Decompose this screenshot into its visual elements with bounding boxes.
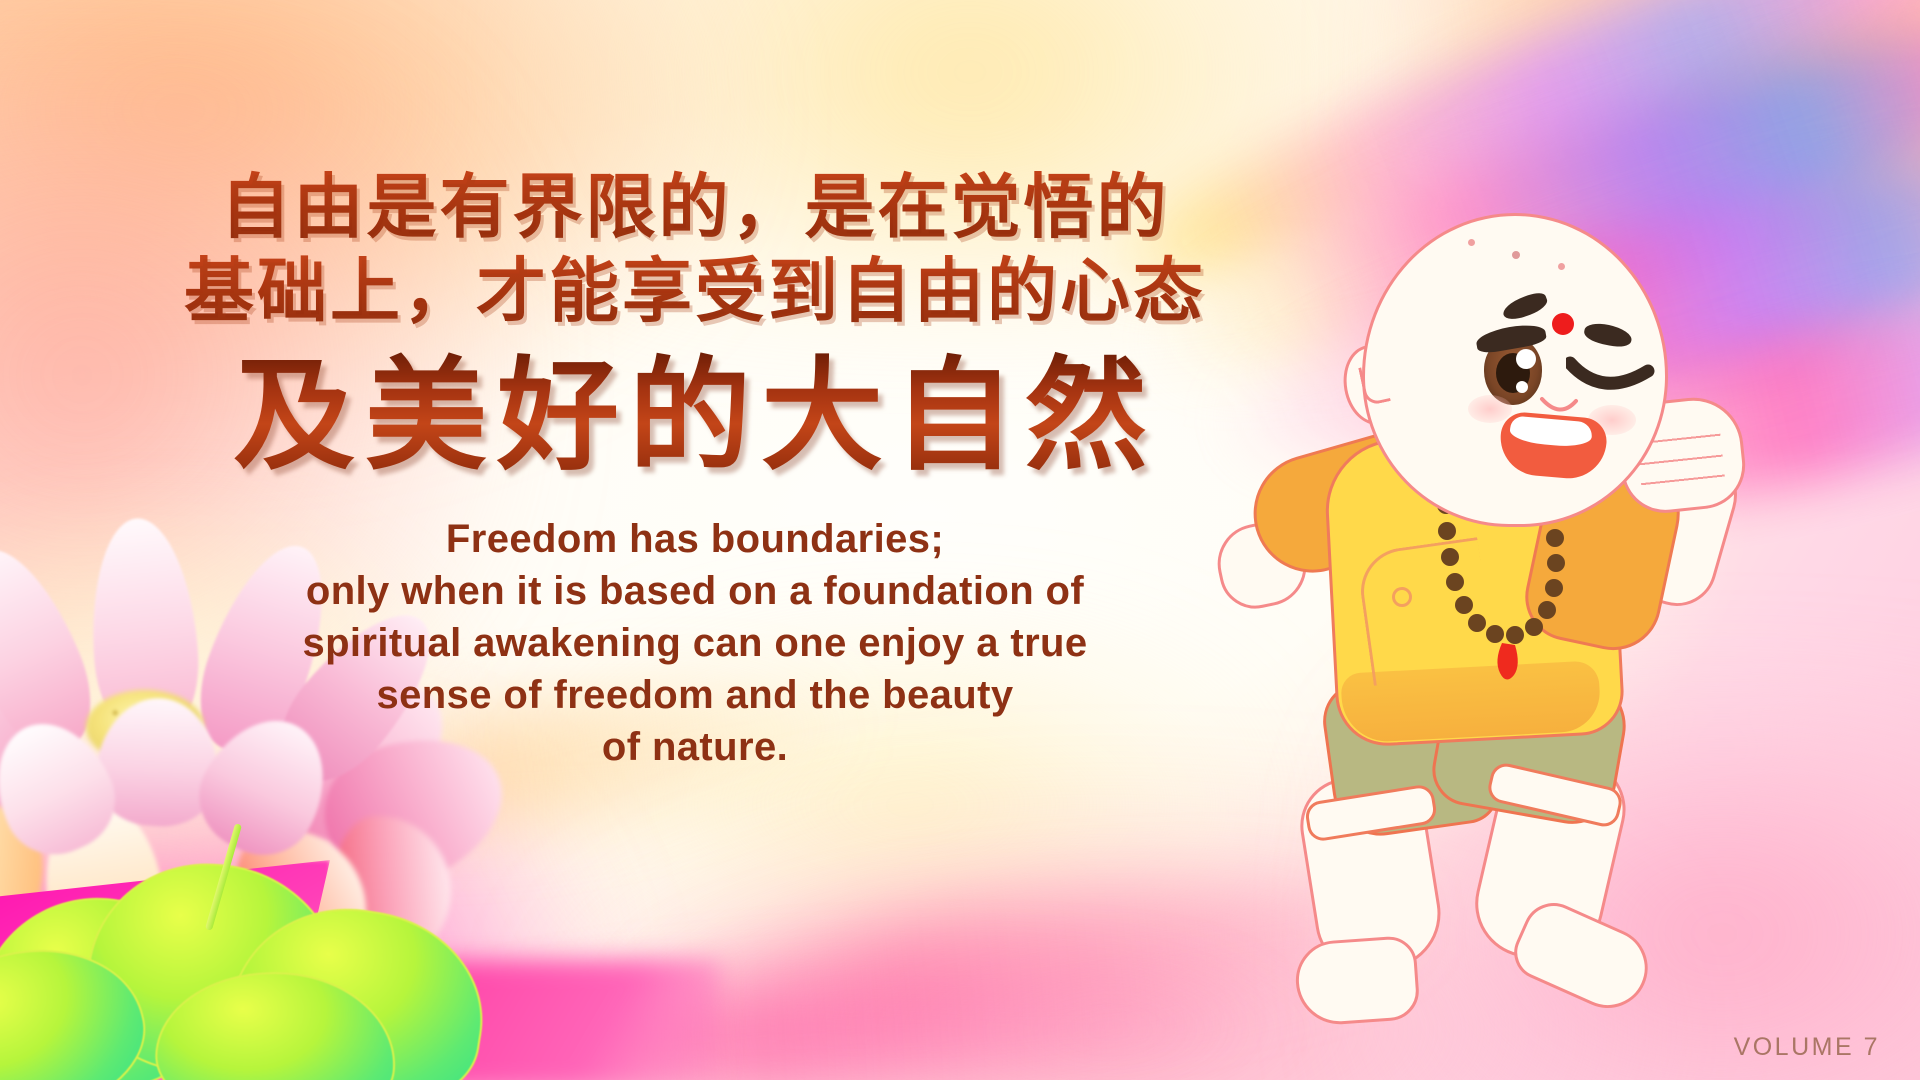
- english-line-5: of nature.: [0, 721, 1390, 773]
- english-line-2: only when it is based on a foundation of: [0, 565, 1390, 617]
- monk-head-dot-1: [1468, 239, 1475, 246]
- quote-text-block: 自由是有界限的，是在觉悟的 基础上，才能享受到自由的心态 及美好的大自然 Fre…: [0, 165, 1390, 773]
- english-line-1: Freedom has boundaries;: [0, 513, 1390, 565]
- monk-foot-left: [1293, 935, 1421, 1027]
- english-line-3: spiritual awakening can one enjoy a true: [0, 617, 1390, 669]
- chinese-line-2: 基础上，才能享受到自由的心态: [0, 249, 1390, 333]
- chinese-line-1: 自由是有界限的，是在觉悟的: [0, 165, 1390, 249]
- english-translation: Freedom has boundaries; only when it is …: [0, 513, 1390, 773]
- monk-head-dot-2: [1512, 251, 1520, 259]
- lotus-leaves: [0, 840, 590, 1080]
- monk-head-dot-3: [1558, 263, 1565, 270]
- monk-bindi-dot: [1552, 313, 1574, 335]
- chinese-headline: 及美好的大自然: [0, 351, 1390, 483]
- monk-eye-highlight-large: [1516, 349, 1536, 369]
- english-line-4: sense of freedom and the beauty: [0, 669, 1390, 721]
- monk-cheek-left: [1468, 395, 1512, 423]
- monk-eye-highlight-small: [1516, 381, 1528, 393]
- poster-canvas: 自由是有界限的，是在觉悟的 基础上，才能享受到自由的心态 及美好的大自然 Fre…: [0, 0, 1920, 1080]
- volume-label: VOLUME 7: [1734, 1033, 1880, 1062]
- monk-boy-character: [1320, 215, 1880, 1045]
